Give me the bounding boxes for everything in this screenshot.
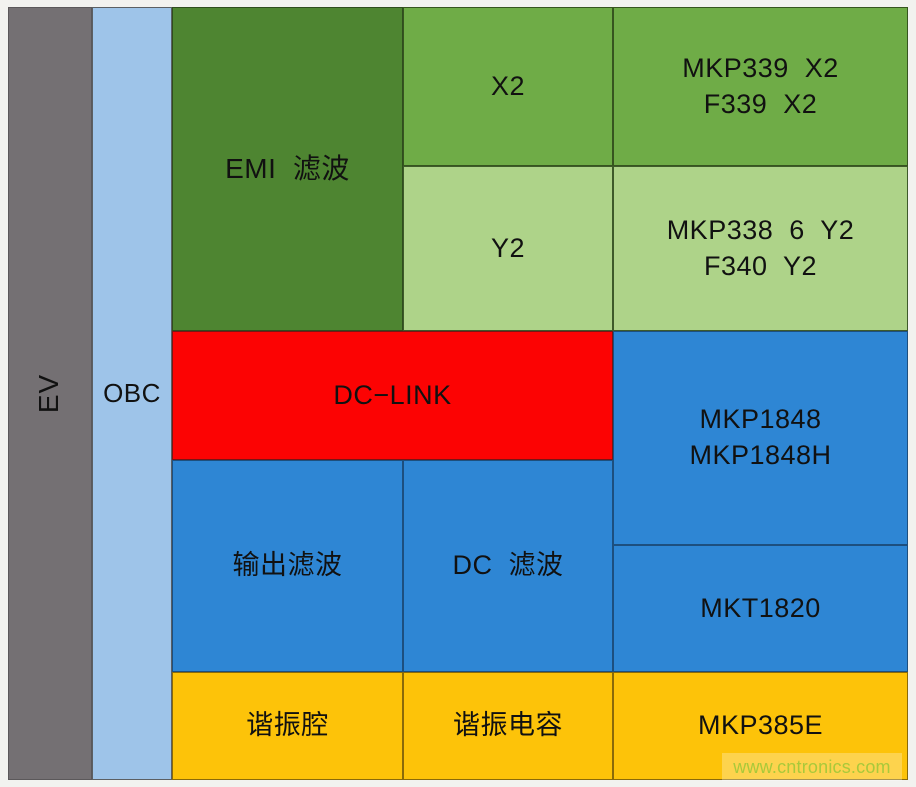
block-output-filter: 输出滤波 — [172, 460, 403, 672]
part-number: MKP339 X2 — [682, 51, 839, 87]
block-resonant-capacitor: 谐振电容 — [403, 672, 613, 780]
dc-filter-label: DC 滤波 — [453, 548, 564, 584]
block-class-x2: X2 — [403, 7, 613, 166]
watermark-text: www.cntronics.com — [733, 757, 890, 778]
block-part-numbers-dc-filter: MKT1820 — [613, 545, 908, 672]
part-number: MKP1848H — [689, 438, 831, 474]
dc-link-label: DC−LINK — [333, 378, 451, 414]
part-number: F339 X2 — [704, 87, 818, 123]
block-dc-link: DC−LINK — [172, 331, 613, 460]
block-class-y2: Y2 — [403, 166, 613, 331]
part-number: MKP338 6 Y2 — [667, 213, 855, 249]
capacitor-application-diagram: EV OBC EMI 滤波 X2 Y2 MKP339 X2 F339 X2 MK… — [0, 0, 916, 787]
block-emi-filter: EMI 滤波 — [172, 7, 403, 331]
block-ev: EV — [8, 7, 92, 780]
block-part-numbers-x2: MKP339 X2 F339 X2 — [613, 7, 908, 166]
part-number: F340 Y2 — [704, 249, 817, 285]
part-number: MKT1820 — [700, 591, 821, 627]
ev-label: EV — [32, 374, 69, 413]
resonant-tank-label: 谐振腔 — [246, 708, 329, 744]
watermark: www.cntronics.com — [722, 753, 902, 781]
block-part-numbers-dc-link: MKP1848 MKP1848H — [613, 331, 908, 545]
obc-label: OBC — [103, 376, 161, 410]
class-y2-label: Y2 — [491, 231, 525, 267]
block-resonant-tank: 谐振腔 — [172, 672, 403, 780]
part-number: MKP385E — [698, 708, 823, 744]
block-obc: OBC — [92, 7, 172, 780]
emi-filter-label: EMI 滤波 — [225, 151, 350, 188]
block-dc-filter: DC 滤波 — [403, 460, 613, 672]
resonant-capacitor-label: 谐振电容 — [453, 708, 563, 744]
block-part-numbers-y2: MKP338 6 Y2 F340 Y2 — [613, 166, 908, 331]
class-x2-label: X2 — [491, 69, 525, 105]
part-number: MKP1848 — [699, 402, 821, 438]
output-filter-label: 输出滤波 — [233, 548, 343, 584]
